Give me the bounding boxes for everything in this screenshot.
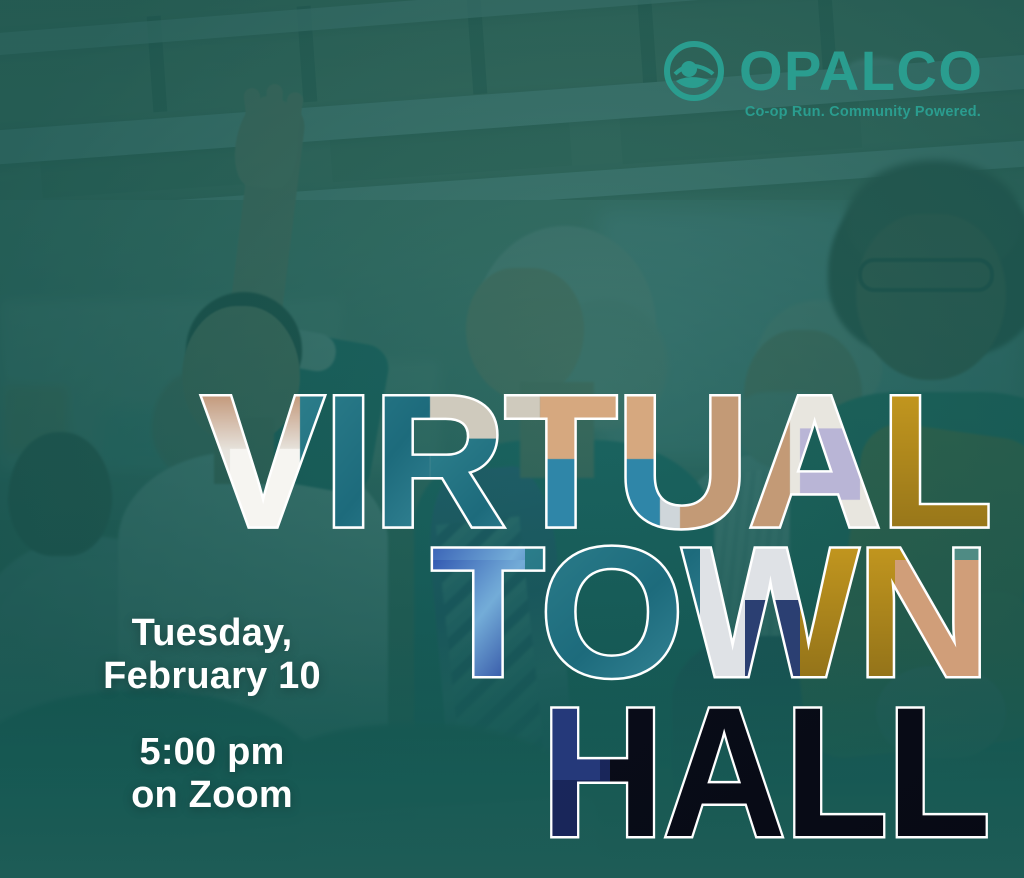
event-platform: on Zoom (76, 774, 348, 817)
opalco-circle-wave-icon (663, 40, 725, 102)
event-day: Tuesday, (76, 612, 348, 655)
event-date: February 10 (76, 655, 348, 698)
poster-canvas: VIRTUAL TOWN HALL OPALCO Co-op Run. Comm… (0, 0, 1024, 878)
event-details: Tuesday, February 10 5:00 pm on Zoom (76, 612, 348, 816)
opalco-logo[interactable]: OPALCO Co-op Run. Community Powered. (663, 40, 983, 118)
event-time: 5:00 pm (76, 731, 348, 774)
opalco-wordmark: OPALCO (739, 43, 983, 99)
opalco-tagline: Co-op Run. Community Powered. (663, 104, 983, 120)
